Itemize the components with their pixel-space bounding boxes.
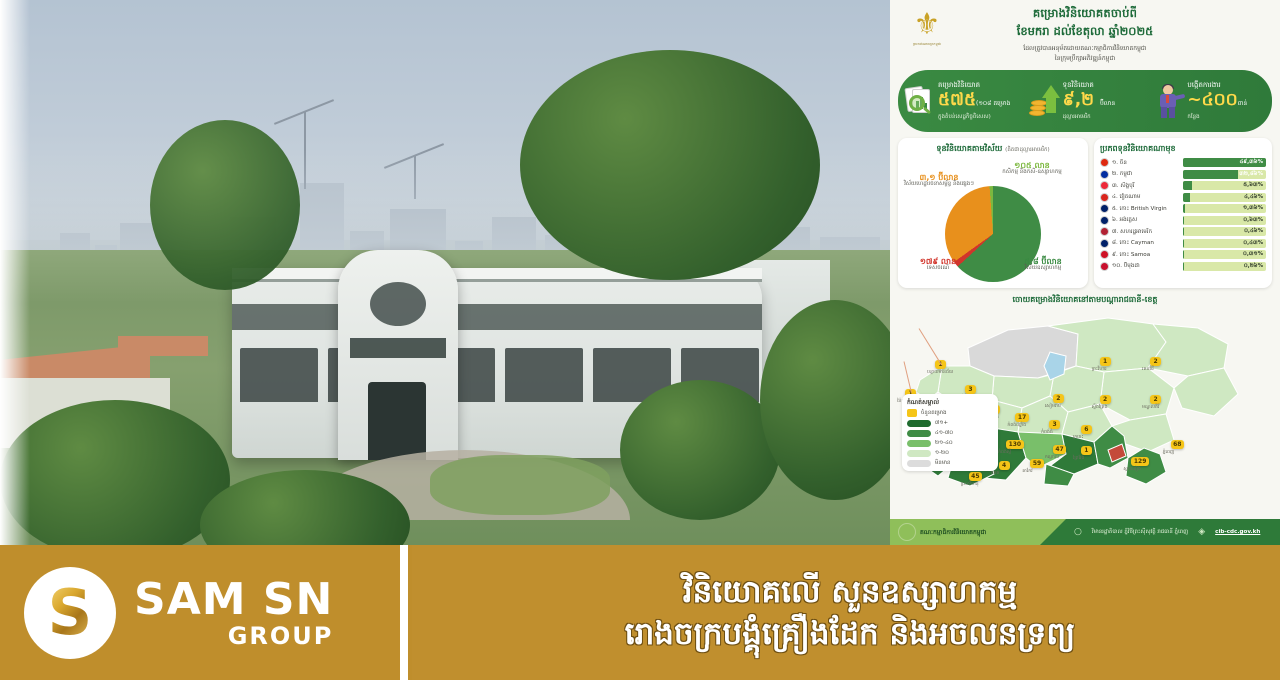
donut-value-agriculture: ១០៥ លាន [986, 162, 1078, 169]
stat-jobs-note: កន្លែង [1187, 113, 1247, 121]
map-pin-45[interactable]: 45 [969, 472, 982, 481]
stat-jobs-value: ~៤០០ [1187, 90, 1237, 110]
rank-row: ៨. កោះ Cayman០,៤៣% [1100, 239, 1266, 248]
rank-bar-value: ០,៦៣% [1243, 216, 1263, 225]
brand-wordmark: SAM SN GROUP [134, 577, 333, 649]
rank-bar-value: ៤៩,៣៦% [1239, 158, 1263, 167]
footer-contact-block: ○ វិមានរដ្ឋាភិបាល ភ្នំវិថីព្រះស៊ីសុវត្ថិ… [1040, 519, 1280, 545]
tree-mid-left [150, 120, 300, 290]
stat-capital-unit: ប៊ីលាន [1100, 100, 1115, 107]
brand-block: S SAM SN GROUP [0, 545, 412, 680]
legend-swatch [907, 420, 931, 427]
rank-row: ២. កម្ពុជា៣២,៨៦% [1100, 170, 1266, 179]
infographic-title-line1: គម្រោងវិនិយោគតចាប់ពី [898, 6, 1272, 23]
rank-bar-fill [1183, 216, 1184, 225]
flag-icon-vg [1100, 204, 1109, 213]
map-pin-17[interactable]: 17 [1015, 413, 1028, 422]
rank-row: ៧. សហរដ្ឋអាមេរិក០,៤៦% [1100, 227, 1266, 236]
legend-range-label: ២១-៤០ [935, 439, 953, 447]
map-pin-2[interactable]: 2 [1100, 395, 1111, 404]
donut-value-tourism: ១៧៩ លាន [902, 258, 974, 265]
hero-photo [0, 0, 890, 545]
map-legend: កំណត់សម្គាល់ ចំនួនគម្រោង ៧១+៤១-៧០២១-៤០១-… [902, 394, 998, 471]
rank-bar-track: ១,៣៦% [1183, 204, 1266, 213]
donut-label-tourism: ១៧៩ លាន ទេសចរណ៍ [902, 258, 974, 272]
map-province-label: ព្រះសីហនុ [961, 482, 979, 488]
rank-country-name: ៣. សិង្ហបុរី [1112, 182, 1180, 190]
map-pin-6[interactable]: 6 [1081, 425, 1092, 434]
brand-name: SAM SN [134, 577, 333, 623]
stat-capital: ទុនវិនិយោគ ៩,២ ប៊ីលាន ដុល្លារអាមេរិក [1023, 81, 1148, 121]
map-pin-3[interactable]: 3 [1049, 420, 1060, 429]
watermark-lotus-icon [898, 523, 916, 541]
rank-bar-value: ៤,៤៦% [1244, 193, 1263, 202]
red-roof-small [118, 336, 208, 356]
investor-source-card: ប្រភពទុនវិនិយោគណាមុខ ១. ចិន៤៩,៣៦%២. កម្ព… [1094, 138, 1272, 288]
globe-icon: ◈ [1198, 527, 1205, 537]
rank-bar-track: ៤,៤៦% [1183, 193, 1266, 202]
rank-title: ប្រភពទុនវិនិយោគណាមុខ [1100, 144, 1176, 153]
rank-bar-value: ៣២,៨៦% [1239, 170, 1263, 179]
donut-label-agriculture: ១០៥ លាន កសិកម្ម និងកសិ-ឧស្សាហកម្ម [986, 162, 1078, 176]
banner-headline: វិនិយោគលើ សួនឧស្សាហកម្ម រោងចក្របង្គុំគ្រ… [420, 545, 1280, 680]
donut-title: ទុនវិនិយោគតាមវិស័យ [936, 144, 1002, 153]
headline-line-2: រោងចក្របង្គុំគ្រឿងដែក និងអចលនទ្រព្យ [625, 614, 1076, 654]
legend-scale-row: មិនមាន [907, 459, 993, 467]
map-pin-59[interactable]: 59 [1030, 459, 1043, 468]
infographic-panel: ⚜ ព្រះរាជាណាចក្រកម្ពុជា គម្រោងវិនិយោគតចា… [890, 0, 1280, 545]
rank-country-name: ៥. កោះ British Virgin [1112, 205, 1180, 213]
map-pin-68[interactable]: 68 [1171, 440, 1184, 449]
map-province-label: បន្ទាយមានជ័យ [927, 370, 953, 376]
rank-row: ១០. ប៊ីមុងដា០,២៦% [1100, 262, 1266, 271]
flag-icon-sg [1100, 181, 1109, 190]
coins-growth-arrow-icon [1029, 84, 1059, 118]
legend-scale-row: ៤១-៧០ [907, 429, 993, 437]
infographic-subtitle-line1: ដែលត្រូវបានអនុម័តដោយគណៈកម្មាធិការវិនិយោគ… [898, 44, 1272, 53]
legend-pin-label: ចំនួនគម្រោង [921, 409, 947, 417]
businessman-icon [1153, 84, 1183, 118]
map-pin-2[interactable]: 2 [1053, 394, 1064, 403]
flag-icon-us [1100, 227, 1109, 236]
map-province-label: កណ្តាល [1045, 455, 1059, 461]
map-province-label: ព្រៃវែង [1073, 456, 1085, 462]
banner-divider [400, 545, 408, 680]
brand-subtitle: GROUP [228, 623, 334, 649]
map-province-label: កំពង់ឈ្នាំង [1007, 423, 1026, 429]
rank-country-name: ៩. កោះ Samoa [1112, 251, 1180, 259]
rank-country-name: ១. ចិន [1112, 159, 1180, 167]
rank-bar-fill [1183, 227, 1184, 236]
legend-pin-icon [907, 409, 917, 417]
rank-bar-track: ០,៤៣% [1183, 239, 1266, 248]
rank-bar-track: ៣២,៨៦% [1183, 170, 1266, 179]
rank-row: ៤. វៀតណាម៤,៤៦% [1100, 193, 1266, 202]
map-pin-1[interactable]: 1 [1081, 446, 1092, 455]
footer-org-name: គណៈកម្មាធិការវិនិយោគកម្ពុជា [920, 528, 986, 537]
tree-bottom-right [620, 380, 780, 520]
rank-country-name: ៨. កោះ Cayman [1112, 239, 1180, 247]
legend-range-label: មិនមាន [935, 459, 950, 467]
map-pin-47[interactable]: 47 [1053, 445, 1066, 454]
donut-cat-agriculture: កសិកម្ម និងកសិ-ឧស្សាហកម្ម [1002, 169, 1061, 175]
map-province-label: កំពត [991, 471, 1000, 477]
legend-swatch [907, 450, 931, 457]
legend-title: កំណត់សម្គាល់ [907, 398, 993, 407]
legend-scale-row: ២១-៤០ [907, 439, 993, 447]
map-pin-2[interactable]: 2 [1150, 357, 1161, 366]
samsn-logo-mark: S [24, 567, 116, 659]
stat-capital-note: ដុល្លារអាមេរិក [1063, 113, 1116, 121]
rank-bar-track: ០,២៦% [1183, 262, 1266, 271]
legend-swatch [907, 460, 931, 467]
donut-value-infrastructure: ៣,១ ប៊ីលាន [902, 174, 976, 181]
rank-bar-fill [1183, 239, 1184, 248]
legend-scale-row: ៧១+ [907, 419, 993, 427]
rank-bar-value: ០,៤៦% [1244, 227, 1263, 236]
donut-value-industry: ៥,៨ ប៊ីលាន [1006, 258, 1080, 265]
donut-subtitle: (គិតជាដុល្លារអាមេរិក) [1005, 147, 1049, 153]
map-province-label: ស្វាយរៀង [1123, 467, 1140, 473]
flag-icon-vn [1100, 193, 1109, 202]
flag-icon-bm [1100, 262, 1109, 271]
bottom-banner: S SAM SN GROUP វិនិយោគលើ សួនឧស្សាហកម្ម រ… [0, 545, 1280, 680]
stat-projects-unit: (១០៨ គម្រោង [976, 100, 1010, 107]
emblem-caption: ព្រះរាជាណាចក្រកម្ពុជា [913, 42, 941, 47]
rank-row: ៩. កោះ Samoa០,៣១% [1100, 250, 1266, 259]
investor-rank-list: ១. ចិន៤៩,៣៦%២. កម្ពុជា៣២,៨៦%៣. សិង្ហបុរី… [1100, 158, 1266, 271]
rank-country-name: ១០. ប៊ីមុងដា [1112, 262, 1180, 270]
donut-cat-industry: វិស័យឧស្សាហកម្ម [1025, 265, 1061, 271]
legend-range-label: ១-២០ [935, 449, 949, 457]
donut-cat-tourism: ទេសចរណ៍ [927, 265, 949, 271]
flag-icon-ky [1100, 239, 1109, 248]
rank-bar-track: ០,៦៣% [1183, 216, 1266, 225]
rank-bar-fill [1183, 193, 1190, 202]
donut-label-infrastructure: ៣,១ ប៊ីលាន វិស័យហេដ្ឋារចនាសម្ព័ន្ធ និងផ្… [902, 174, 976, 188]
map-pin-4[interactable]: 4 [999, 461, 1010, 470]
rank-bar-value: ១,៣៦% [1243, 204, 1263, 213]
infographic-header: ⚜ ព្រះរាជាណាចក្រកម្ពុជា គម្រោងវិនិយោគតចា… [890, 0, 1280, 65]
map-province-label: ព្រះវិហារ [1092, 367, 1107, 373]
document-magnifier-icon [904, 84, 934, 118]
legend-range-label: ៧១+ [935, 419, 948, 427]
province-map-section: ចោយគម្រោងវិនិយោគនៅតាមបណ្តារាជធានី-ខេត្ត [898, 294, 1272, 494]
map-pin-icon: ○ [1074, 527, 1082, 537]
donut-cat-infrastructure: វិស័យហេដ្ឋារចនាសម្ព័ន្ធ និងផ្សេងៗ [904, 181, 974, 187]
map-province-label: រតនគិរី [1142, 367, 1154, 373]
map-province-label: ក្រចេះ [1073, 435, 1084, 441]
rank-bar-fill [1183, 181, 1192, 190]
photo-left-fade [0, 0, 30, 545]
rank-bar-value: ៥,៦៣% [1243, 181, 1263, 190]
legend-pin-row: ចំនួនគម្រោង [907, 409, 993, 417]
cambodia-map: 1បន្ទាយមានជ័យ1ប៉ៃលិន3បាត់ដំបង2ពោធិ៍សាត់1… [898, 308, 1272, 494]
rank-bar-fill [1183, 170, 1238, 179]
stat-projects-value: ៥៧៥ [938, 90, 976, 110]
rank-bar-value: ០,៤៣% [1243, 239, 1263, 248]
stat-projects: គម្រោងវិនិយោគ ៥៧៥(១០៨ គម្រោង ក្នុងតំបន់ស… [898, 81, 1023, 121]
rank-row: ៦. អង់គ្លេស០,៦៣% [1100, 216, 1266, 225]
stat-capital-value: ៩,២ [1063, 90, 1094, 110]
building-doorway [368, 382, 426, 460]
legend-swatch [907, 430, 931, 437]
rank-bar-track: ៤៩,៣៦% [1183, 158, 1266, 167]
legend-swatch [907, 440, 931, 447]
legend-range-label: ៤១-៧០ [935, 429, 953, 437]
map-pin-129[interactable]: 129 [1131, 457, 1149, 466]
rank-country-name: ៤. វៀតណាម [1112, 193, 1180, 201]
flag-icon-gb [1100, 216, 1109, 225]
infographic-title-line2: ខែមករា ដល់ខែតុលា ឆ្នាំ២០២៥ [898, 24, 1272, 41]
cambodia-royal-emblem-icon: ⚜ ព្រះរាជាណាចក្រកម្ពុជា [904, 10, 950, 68]
legend-scale-rows: ៧១+៤១-៧០២១-៤០១-២០មិនមាន [907, 419, 993, 467]
map-pin-2[interactable]: 2 [1150, 395, 1161, 404]
map-title: ចោយគម្រោងវិនិយោគនៅតាមបណ្តារាជធានី-ខេត្ត [898, 294, 1272, 306]
flag-icon-cn [1100, 158, 1109, 167]
rank-country-name: ២. កម្ពុជា [1112, 170, 1180, 178]
footer-website[interactable]: cib-cdc.gov.kh [1215, 529, 1260, 535]
rank-bar-track: ០,៣១% [1183, 250, 1266, 259]
map-pin-130[interactable]: 130 [1006, 440, 1024, 449]
building-crest-icon [370, 282, 426, 326]
stat-projects-note: ក្នុងតំបន់សេដ្ឋកិច្ចពិសេស) [938, 113, 1010, 121]
legend-scale-row: ១-២០ [907, 449, 993, 457]
building-entrance-portico [338, 250, 458, 460]
map-province-label: កំពង់ស្ពឺ [998, 450, 1011, 456]
map-pin-3[interactable]: 3 [965, 385, 976, 394]
rank-row: ១. ចិន៤៩,៣៦% [1100, 158, 1266, 167]
rank-bar-fill [1183, 250, 1184, 259]
flag-icon-ws [1100, 250, 1109, 259]
map-province-label: ភ្នំពេញ [1163, 450, 1175, 456]
sector-donut-card: ទុនវិនិយោគតាមវិស័យ (គិតជាដុល្លារអាមេរិក)… [898, 138, 1088, 288]
infographic-footer: គណៈកម្មាធិការវិនិយោគកម្ពុជា ○ វិមានរដ្ឋា… [890, 519, 1280, 545]
rank-country-name: ៧. សហរដ្ឋអាមេរិក [1112, 228, 1180, 236]
footer-address: វិមានរដ្ឋាភិបាល ភ្នំវិថីព្រះស៊ីសុវត្ថិ រ… [1092, 528, 1188, 536]
map-province-label: មណ្ឌលគិរី [1142, 405, 1159, 411]
map-pin-1[interactable]: 1 [1100, 357, 1111, 366]
map-province-label: សៀមរាប [1045, 404, 1061, 410]
foreground-tree-right [520, 50, 820, 280]
rank-bar-value: ០,៣១% [1243, 250, 1263, 259]
key-stats-bar: គម្រោងវិនិយោគ ៥៧៥(១០៨ គម្រោង ក្នុងតំបន់ស… [898, 70, 1272, 132]
map-province-label: ស្ទឹងត្រែង [1092, 405, 1108, 411]
rank-bar-track: ០,៤៦% [1183, 227, 1266, 236]
map-province-label: កំពង់ធំ [1041, 430, 1053, 436]
rank-country-name: ៦. អង់គ្លេស [1112, 216, 1180, 224]
logo-letter: S [48, 582, 93, 644]
stat-jobs-unit: ពាន់ [1238, 100, 1248, 107]
lawn-patch [430, 455, 610, 515]
rank-bar-track: ៥,៦៣% [1183, 181, 1266, 190]
donut-label-industry: ៥,៨ ប៊ីលាន វិស័យឧស្សាហកម្ម [1006, 258, 1080, 272]
flag-icon-kh [1100, 170, 1109, 179]
rank-row: ៥. កោះ British Virgin១,៣៦% [1100, 204, 1266, 213]
rank-bar-fill [1183, 204, 1185, 213]
headline-line-1: វិនិយោគលើ សួនឧស្សាហកម្ម [683, 572, 1017, 612]
infographic-subtitle-line2: នៃក្រុមប្រឹក្សាអភិវឌ្ឍន៍កម្ពុជា [898, 54, 1272, 63]
stat-jobs: បង្កើតការងារ ~៤០០ពាន់ កន្លែង [1147, 81, 1272, 121]
map-province-label: តាកែវ [1022, 469, 1032, 475]
rank-row: ៣. សិង្ហបុរី៥,៦៣% [1100, 181, 1266, 190]
rank-bar-value: ០,២៦% [1244, 262, 1263, 271]
charts-row: ទុនវិនិយោគតាមវិស័យ (គិតជាដុល្លារអាមេរិក)… [898, 138, 1272, 288]
